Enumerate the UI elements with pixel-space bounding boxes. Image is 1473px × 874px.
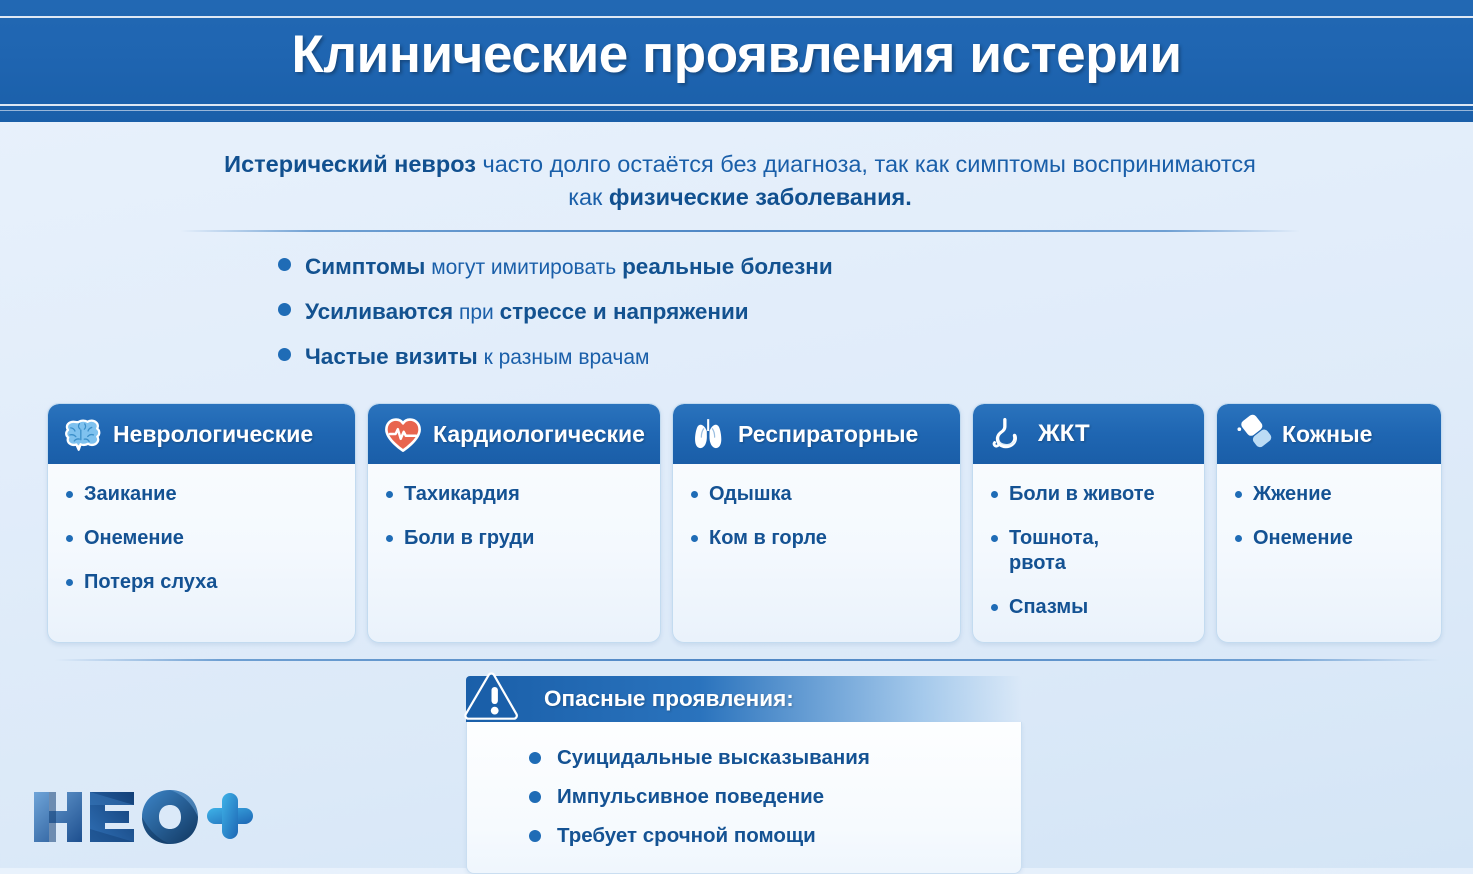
- list-item: Тошнота, рвота: [991, 526, 1194, 576]
- page-title: Клинические проявления истерии: [0, 24, 1473, 85]
- symptom-label: Потеря слуха: [84, 570, 217, 595]
- bullet-dot-icon: [529, 791, 541, 803]
- page-header-banner: Клинические проявления истерии: [0, 0, 1473, 122]
- header-rule-bottom: [0, 104, 1473, 106]
- symptom-label: Ком в горле: [709, 526, 827, 551]
- header-rule-top: [0, 16, 1473, 18]
- card-title: Неврологические: [113, 421, 313, 448]
- stomach-icon: [987, 413, 1029, 455]
- list-item: Усиливаются при стрессе и напряжении: [278, 299, 1178, 344]
- list-item: Тахикардия: [386, 482, 650, 507]
- danger-signs-header: Опасные проявления:: [466, 676, 1022, 722]
- bullet-dot-icon: [691, 535, 698, 542]
- list-item: Спазмы: [991, 595, 1194, 620]
- card-header: Кардиологические: [368, 404, 660, 464]
- bullet-dot-icon: [1235, 535, 1242, 542]
- card-header: ЖКТ: [973, 404, 1204, 464]
- list-item: Онемение: [66, 526, 345, 551]
- card-cardiological: Кардиологические Тахикардия Боли в груди: [367, 403, 661, 643]
- symptom-label: Онемение: [1253, 526, 1353, 551]
- intro-paragraph: Истерический невроз часто долго остаётся…: [150, 148, 1330, 214]
- danger-item-label: Требует срочной помощи: [557, 824, 816, 848]
- key-point-text: Усиливаются при стрессе и напряжении: [305, 299, 749, 325]
- list-item: Заикание: [66, 482, 345, 507]
- card-body: Заикание Онемение Потеря слуха: [48, 464, 355, 622]
- card-body: Боли в животе Тошнота, рвота Спазмы: [973, 464, 1204, 643]
- card-respiratory: Респираторные Одышка Ком в горле: [672, 403, 961, 643]
- bullet-dot-icon: [386, 491, 393, 498]
- lungs-icon: [687, 413, 729, 455]
- bullet-dot-icon: [66, 491, 73, 498]
- card-dermatological: Кожные Жжение Онемение: [1216, 403, 1442, 643]
- key-point-text: Симптомы могут имитировать реальные боле…: [305, 254, 833, 280]
- danger-signs-list: Суицидальные высказывания Импульсивное п…: [466, 722, 1022, 874]
- intro-text-1: часто долго остаётся без диагноза, так к…: [476, 151, 1256, 177]
- symptom-label: Боли в груди: [404, 526, 534, 551]
- symptom-label: Онемение: [84, 526, 184, 551]
- list-item: Боли в животе: [991, 482, 1194, 507]
- bullet-dot-icon: [66, 535, 73, 542]
- card-header: Кожные: [1217, 404, 1441, 464]
- bullet-dot-icon: [991, 604, 998, 611]
- header-rule-bottom-thin: [0, 110, 1473, 111]
- danger-item-label: Импульсивное поведение: [557, 785, 824, 809]
- symptom-label: Заикание: [84, 482, 177, 507]
- bullet-dot-icon: [386, 535, 393, 542]
- card-gastrointestinal: ЖКТ Боли в животе Тошнота, рвота Спазмы: [972, 403, 1205, 643]
- card-body: Одышка Ком в горле: [673, 464, 960, 578]
- symptom-label: Одышка: [709, 482, 792, 507]
- card-title: ЖКТ: [1038, 420, 1090, 448]
- bullet-dot-icon: [278, 303, 291, 316]
- divider-bottom: [55, 659, 1440, 661]
- bullet-dot-icon: [1235, 491, 1242, 498]
- list-item: Онемение: [1235, 526, 1431, 551]
- list-item: Жжение: [1235, 482, 1431, 507]
- brand-logo: [28, 786, 256, 848]
- key-points-list: Симптомы могут имитировать реальные боле…: [278, 254, 1178, 389]
- bullet-dot-icon: [991, 535, 998, 542]
- symptom-label: Тахикардия: [404, 482, 520, 507]
- intro-text-2: как: [568, 184, 609, 210]
- bullet-dot-icon: [529, 752, 541, 764]
- card-body: Жжение Онемение: [1217, 464, 1441, 578]
- list-item: Импульсивное поведение: [529, 777, 1005, 816]
- brain-icon: [62, 413, 104, 455]
- symptom-label: Жжение: [1253, 482, 1332, 507]
- heart-ecg-icon: [382, 413, 424, 455]
- symptom-label: Боли в животе: [1009, 482, 1155, 507]
- list-item: Требует срочной помощи: [529, 816, 1005, 855]
- bullet-dot-icon: [691, 491, 698, 498]
- danger-item-label: Суицидальные высказывания: [557, 746, 870, 770]
- bullet-dot-icon: [278, 348, 291, 361]
- key-point-text: Частые визиты к разным врачам: [305, 344, 649, 370]
- symptom-label: Тошнота, рвота: [1009, 526, 1099, 576]
- list-item: Потеря слуха: [66, 570, 345, 595]
- danger-signs-title: Опасные проявления:: [544, 686, 794, 712]
- list-item: Частые визиты к разным врачам: [278, 344, 1178, 389]
- warning-triangle-icon: [464, 667, 536, 731]
- divider-top: [180, 230, 1300, 232]
- card-title: Кожные: [1282, 421, 1372, 448]
- bullet-dot-icon: [66, 579, 73, 586]
- bullet-dot-icon: [278, 258, 291, 271]
- card-neurological: Неврологические Заикание Онемение Потеря…: [47, 403, 356, 643]
- list-item: Суицидальные высказывания: [529, 738, 1005, 777]
- intro-term: Истерический невроз: [224, 151, 476, 177]
- card-title: Респираторные: [738, 421, 918, 448]
- card-header: Неврологические: [48, 404, 355, 464]
- list-item: Ком в горле: [691, 526, 950, 551]
- skin-patches-icon: [1231, 413, 1273, 455]
- symptom-label: Спазмы: [1009, 595, 1088, 620]
- bullet-dot-icon: [529, 830, 541, 842]
- bullet-dot-icon: [991, 491, 998, 498]
- list-item: Одышка: [691, 482, 950, 507]
- list-item: Симптомы могут имитировать реальные боле…: [278, 254, 1178, 299]
- list-item: Боли в груди: [386, 526, 650, 551]
- symptom-category-cards: Неврологические Заикание Онемение Потеря…: [47, 403, 1442, 643]
- card-title: Кардиологические: [433, 421, 645, 448]
- card-body: Тахикардия Боли в груди: [368, 464, 660, 578]
- danger-signs-box: Опасные проявления: Суицидальные высказы…: [466, 676, 1022, 874]
- intro-term-2: физические заболевания.: [609, 184, 912, 210]
- card-header: Респираторные: [673, 404, 960, 464]
